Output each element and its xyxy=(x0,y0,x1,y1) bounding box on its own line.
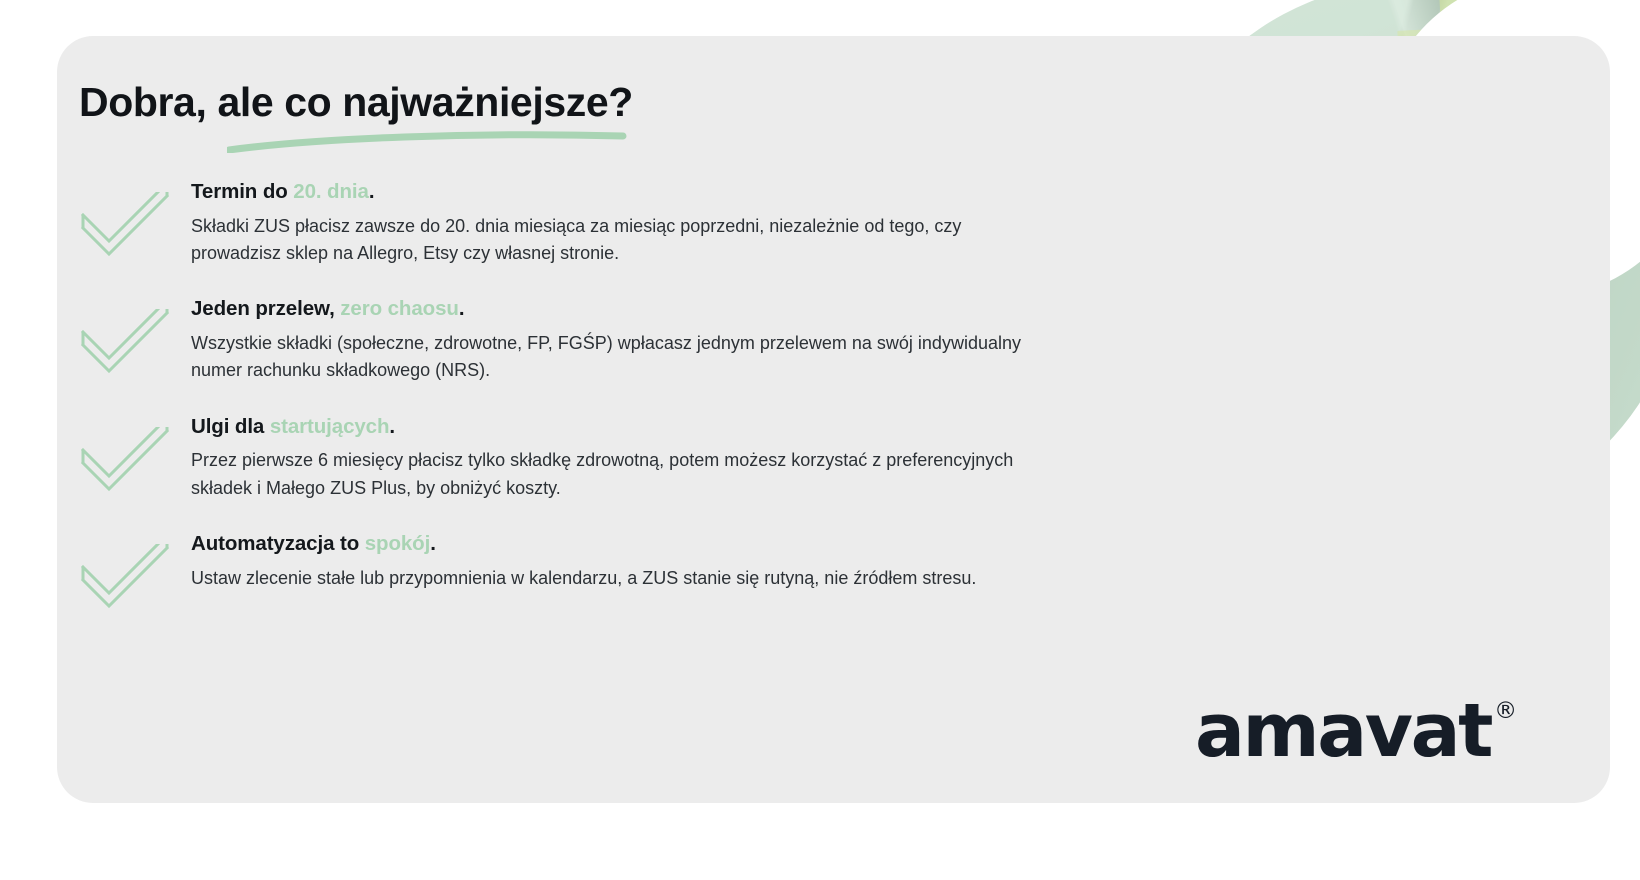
list-item-body: Wszystkie składki (społeczne, zdrowotne,… xyxy=(191,330,1051,385)
title-end: . xyxy=(369,180,375,203)
list-item-text: Ulgi dla startujących. Przez pierwsze 6 … xyxy=(191,413,1139,502)
title-end: . xyxy=(389,415,395,438)
list-item-text: Jeden przelew, zero chaosu. Wszystkie sk… xyxy=(191,295,1139,384)
title-accent: zero chaosu xyxy=(340,297,459,320)
title-plain: Jeden przelew, xyxy=(191,297,340,320)
list-item-title: Ulgi dla startujących. xyxy=(191,413,1139,441)
logo-wordmark: amavat xyxy=(1195,694,1491,768)
title-accent: spokój xyxy=(365,532,430,555)
list-item-body: Ustaw zlecenie stałe lub przypomnienia w… xyxy=(191,565,1051,592)
benefits-list: Termin do 20. dnia. Składki ZUS płacisz … xyxy=(79,178,1139,614)
check-icon xyxy=(79,530,191,612)
check-icon xyxy=(79,178,191,260)
list-item: Ulgi dla startujących. Przez pierwsze 6 … xyxy=(79,413,1139,502)
check-icon xyxy=(79,295,191,377)
list-item: Jeden przelew, zero chaosu. Wszystkie sk… xyxy=(79,295,1139,384)
check-icon xyxy=(79,413,191,495)
title-plain: Termin do xyxy=(191,180,293,203)
sticky-note xyxy=(1439,0,1474,23)
list-item-body: Przez pierwsze 6 miesięcy płacisz tylko … xyxy=(191,447,1051,502)
list-item-text: Termin do 20. dnia. Składki ZUS płacisz … xyxy=(191,178,1139,267)
list-item-title: Termin do 20. dnia. xyxy=(191,178,1139,206)
title-accent: startujących xyxy=(270,415,390,438)
title-end: . xyxy=(430,532,436,555)
heading-underline-swoosh xyxy=(227,131,627,153)
title-end: . xyxy=(459,297,465,320)
list-item-text: Automatyzacja to spokój. Ustaw zlecenie … xyxy=(191,530,1139,592)
list-item-title: Automatyzacja to spokój. xyxy=(191,530,1139,558)
page-title: Dobra, ale co najważniejsze? xyxy=(79,80,839,125)
registered-trademark-icon: ® xyxy=(1494,700,1517,723)
list-item: Automatyzacja to spokój. Ustaw zlecenie … xyxy=(79,530,1139,614)
title-accent: 20. dnia xyxy=(293,180,369,203)
title-plain: Ulgi dla xyxy=(191,415,270,438)
title-plain: Automatyzacja to xyxy=(191,532,365,555)
sticky-note xyxy=(1511,0,1546,19)
list-item-body: Składki ZUS płacisz zawsze do 20. dnia m… xyxy=(191,213,1051,268)
list-item: Termin do 20. dnia. Składki ZUS płacisz … xyxy=(79,178,1139,267)
list-item-title: Jeden przelew, zero chaosu. xyxy=(191,295,1139,323)
heading-block: Dobra, ale co najważniejsze? xyxy=(79,80,839,153)
amavat-logo: amavat ® xyxy=(1195,694,1517,768)
